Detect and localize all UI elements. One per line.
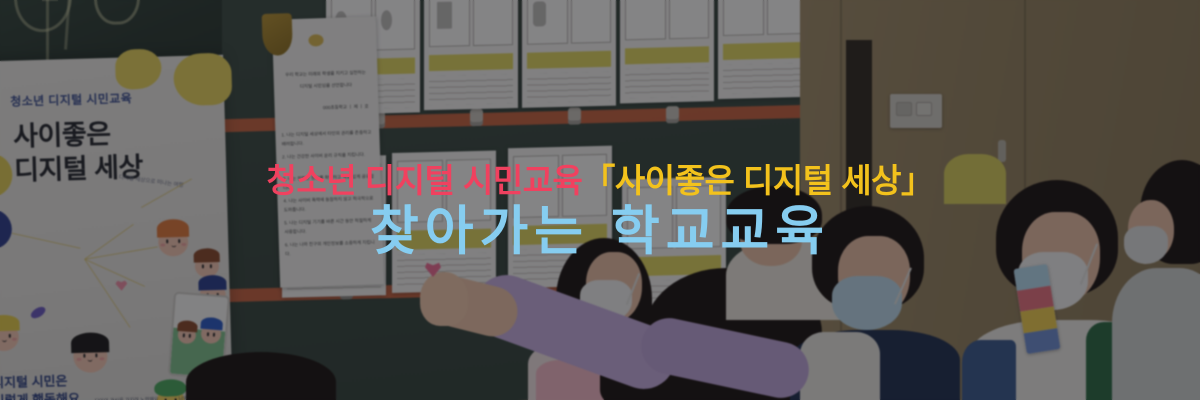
hero-banner: 우리 학교는 미래의 학생을 지키고 실천하는 디지털 시민임을 선언합니다 0… [0,0,1200,400]
headline-pink-text: 청소년 디지털 시민교육 [266,162,582,199]
headline-line-2: 찾아가는학교교육 [370,204,830,260]
headline-line2-part1: 찾아가는 [370,202,589,261]
headline-block: 청소년 디지털 시민교육「사이좋은 디지털 세상」 찾아가는학교교육 [0,0,1200,400]
headline-gold-text: 「사이좋은 디지털 세상」 [582,162,933,199]
headline-line-1: 청소년 디지털 시민교육「사이좋은 디지털 세상」 [266,164,933,197]
headline-line2-part2: 학교교육 [611,202,830,261]
